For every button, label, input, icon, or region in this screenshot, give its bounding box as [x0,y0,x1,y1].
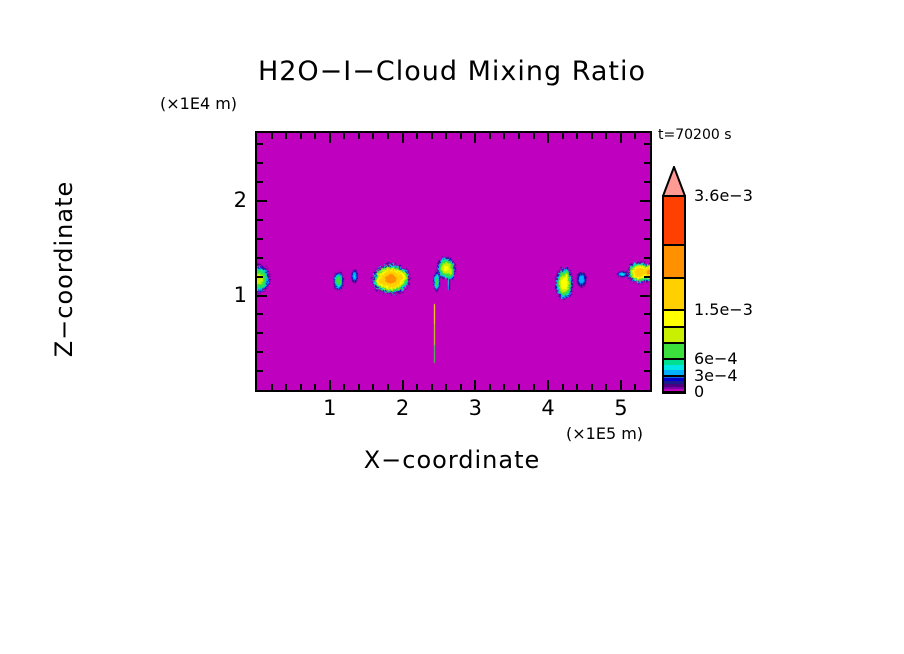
x-tick-top [460,133,462,139]
x-tick-bottom [503,384,505,390]
colorbar-tick-label: 0 [694,382,704,401]
x-tick-bottom [489,384,491,390]
x-tick-bottom [431,384,433,390]
x-tick-bottom [474,380,476,390]
colorbar [662,196,686,394]
y-tick-label: 1 [207,283,247,307]
colorbar-segment [662,196,686,245]
colorbar-segment [662,343,686,359]
x-tick-label: 2 [383,396,423,420]
x-tick-top [314,133,316,139]
x-tick-bottom [314,384,316,390]
x-tick-bottom [285,384,287,390]
x-tick-top [285,133,287,139]
x-tick-bottom [576,384,578,390]
colorbar-separator [662,358,686,360]
colorbar-separator [662,342,686,344]
y-tick-right [644,219,650,221]
colorbar-tick-label: 3.6e−3 [694,186,753,205]
x-tick-top [576,133,578,139]
x-tick-label: 3 [455,396,495,420]
x-tick-top [271,133,273,139]
x-tick-bottom [605,384,607,390]
x-tick-top [605,133,607,139]
x-tick-top [474,133,476,143]
colorbar-segment [662,327,686,343]
x-tick-top [402,133,404,143]
colorbar-segment [662,384,686,387]
x-tick-label: 1 [310,396,350,420]
colorbar-segment [662,381,686,384]
x-tick-bottom [591,384,593,390]
contour-plot-area [255,131,652,392]
contour-field [257,133,650,390]
x-axis-title: X−coordinate [0,446,904,474]
y-tick-left [257,219,263,221]
y-tick-left [257,200,267,202]
colorbar-tick-label: 1.5e−3 [694,300,753,319]
x-tick-label: 4 [528,396,568,420]
x-tick-top [372,133,374,139]
colorbar-segment [662,378,686,381]
y-tick-right [644,162,650,164]
x-tick-bottom [387,384,389,390]
y-tick-left [257,276,263,278]
y-tick-left [257,181,263,183]
x-tick-top [445,133,447,139]
x-tick-top [489,133,491,139]
x-unit-label: (×1E5 m) [566,424,643,443]
x-tick-top [533,133,535,139]
x-tick-label: 5 [601,396,641,420]
y-tick-right [644,351,650,353]
x-tick-top [591,133,593,139]
x-tick-top [634,133,636,139]
y-tick-left [257,162,263,164]
colorbar-segment [662,245,686,278]
y-tick-right [644,313,650,315]
x-tick-bottom [547,380,549,390]
x-tick-top [416,133,418,139]
y-tick-right [644,276,650,278]
x-tick-bottom [562,384,564,390]
x-tick-top [358,133,360,139]
colorbar-bottom-edge [662,392,686,394]
y-tick-left [257,370,263,372]
x-tick-top [387,133,389,139]
x-tick-top [503,133,505,139]
time-annotation: t=70200 s [658,127,732,143]
colorbar-segment [662,365,686,370]
x-tick-top [518,133,520,139]
y-axis-title: Z−coordinate [50,119,78,419]
y-tick-left [257,313,263,315]
x-tick-bottom [300,384,302,390]
y-tick-label: 2 [207,188,247,212]
colorbar-segment [662,387,686,390]
x-tick-bottom [620,380,622,390]
x-tick-bottom [372,384,374,390]
y-tick-left [257,351,263,353]
y-tick-left [257,295,267,297]
x-tick-bottom [445,384,447,390]
x-tick-top [431,133,433,139]
x-tick-bottom [343,384,345,390]
y-tick-right [640,295,650,297]
x-tick-bottom [533,384,535,390]
x-tick-top [300,133,302,139]
y-tick-left [257,257,263,259]
x-tick-bottom [634,384,636,390]
y-tick-right [644,257,650,259]
x-tick-bottom [271,384,273,390]
x-tick-top [329,133,331,143]
x-tick-bottom [518,384,520,390]
z-unit-label: (×1E4 m) [160,94,237,113]
colorbar-extend-arrow [662,166,686,197]
x-tick-top [343,133,345,139]
y-tick-right [644,370,650,372]
y-tick-right [644,332,650,334]
x-tick-bottom [402,380,404,390]
colorbar-segment [662,278,686,311]
figure-canvas: H2O−I−Cloud Mixing Ratio (×1E4 m) t=7020… [0,0,904,654]
x-tick-top [547,133,549,143]
y-tick-right [644,143,650,145]
colorbar-separator [662,277,686,279]
colorbar-separator [662,309,686,311]
colorbar-separator [662,375,686,377]
x-tick-bottom [460,384,462,390]
x-tick-top [620,133,622,143]
colorbar-separator [662,244,686,246]
y-tick-left [257,143,263,145]
y-tick-right [644,238,650,240]
colorbar-separator [662,195,686,197]
x-tick-bottom [416,384,418,390]
y-tick-right [644,181,650,183]
x-tick-top [562,133,564,139]
x-tick-bottom [329,380,331,390]
page-title: H2O−I−Cloud Mixing Ratio [0,56,904,87]
colorbar-segment [662,310,686,326]
x-tick-bottom [358,384,360,390]
y-tick-left [257,238,263,240]
colorbar-separator [662,326,686,328]
y-tick-left [257,332,263,334]
y-tick-right [640,200,650,202]
